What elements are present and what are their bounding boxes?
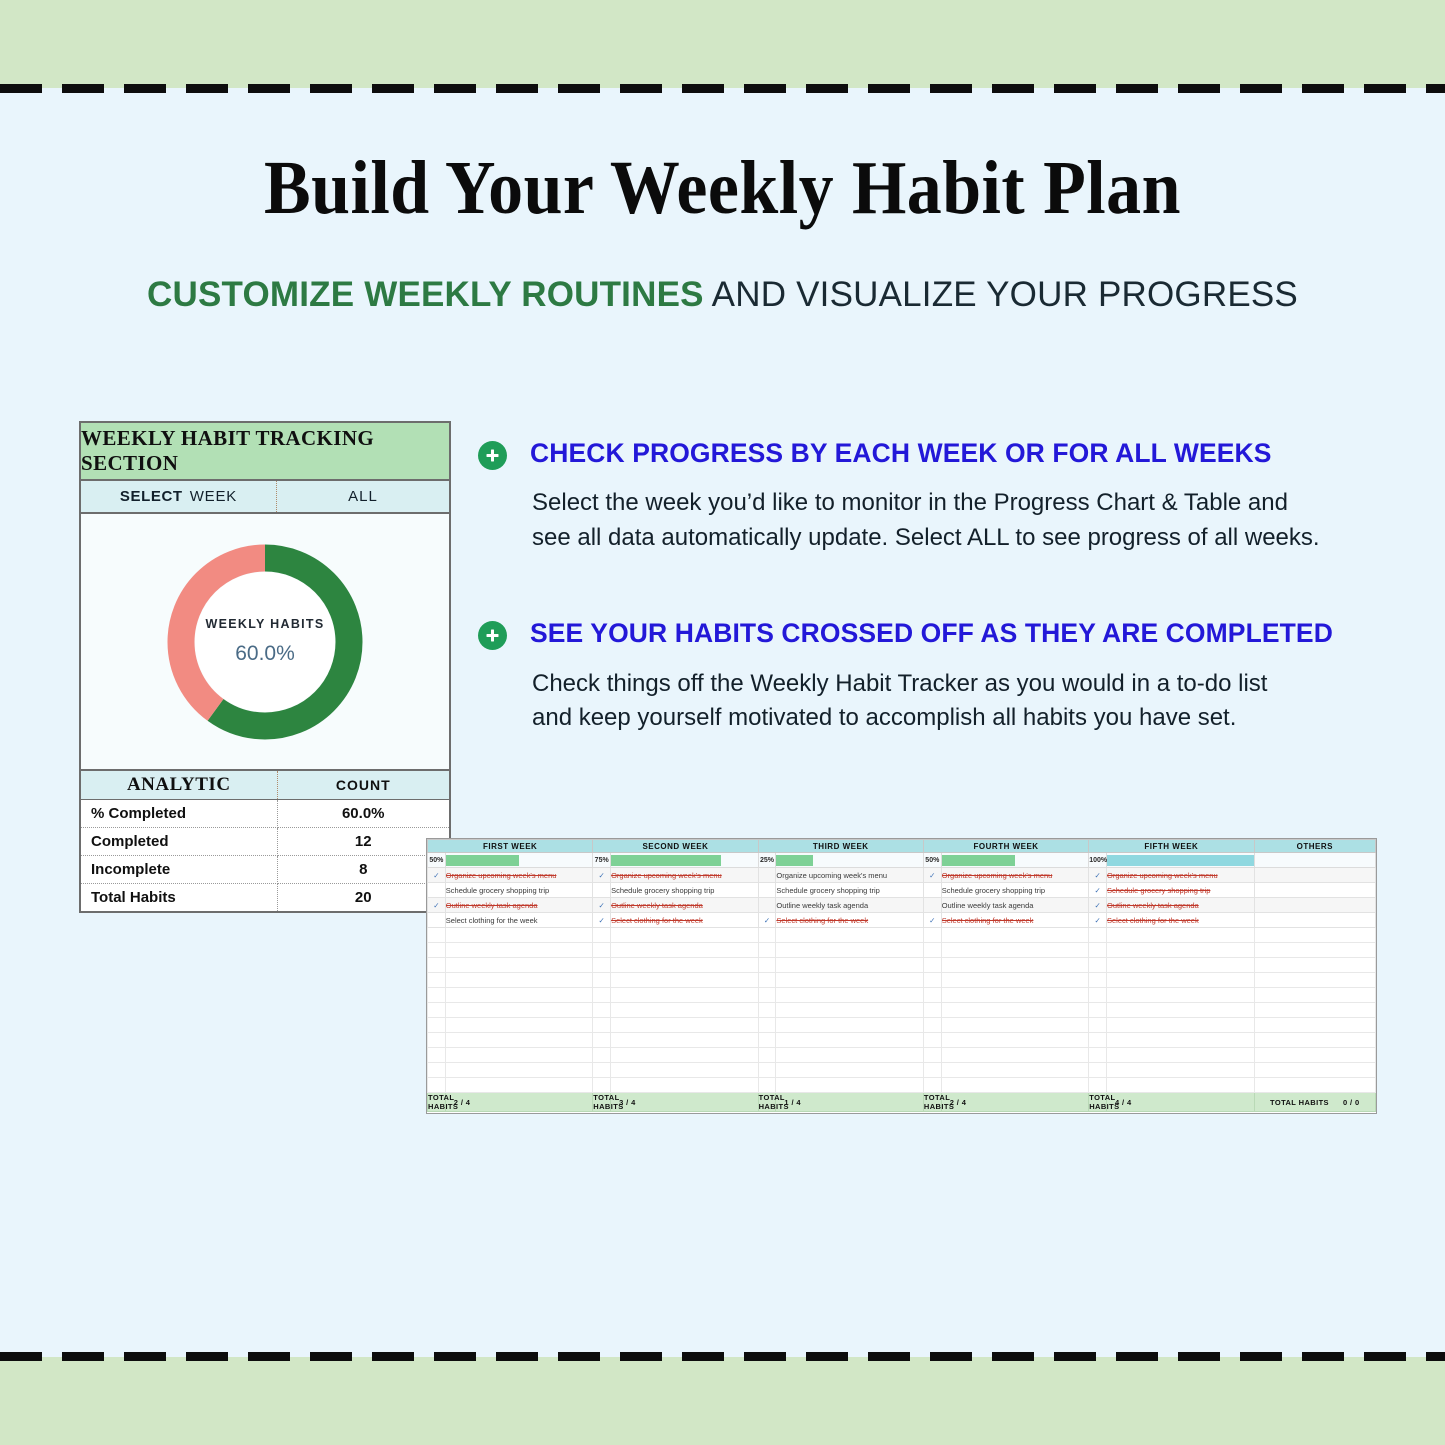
empty-cell[interactable] <box>941 1048 1089 1063</box>
task-checkbox[interactable]: ✓ <box>428 898 446 913</box>
empty-cell[interactable] <box>1089 973 1107 988</box>
empty-cell[interactable] <box>1089 1003 1107 1018</box>
empty-cell[interactable] <box>1254 1063 1375 1078</box>
feature-title: CHECK PROGRESS BY EACH WEEK OR FOR ALL W… <box>530 438 1378 468</box>
task-label[interactable]: Organize upcoming week's menu <box>776 868 924 883</box>
empty-cell[interactable] <box>941 958 1089 973</box>
analytic-row-count: 60.0% <box>277 799 449 827</box>
task-checkbox[interactable]: ✓ <box>428 868 446 883</box>
tracker-task-row: Select clothing for the week✓Select clot… <box>428 913 1376 928</box>
analytic-body: % Completed60.0%Completed12Incomplete8To… <box>81 799 449 911</box>
empty-cell[interactable] <box>1107 1003 1255 1018</box>
bottom-green-band <box>0 1357 1445 1445</box>
empty-cell[interactable] <box>1089 1048 1107 1063</box>
feature-body-line: Select the week you’d like to monitor in… <box>532 486 1378 521</box>
empty-cell[interactable] <box>445 1018 593 1033</box>
progress-percent-label: 25% <box>758 853 776 868</box>
bottom-dashed-divider <box>0 1352 1445 1361</box>
empty-cell[interactable] <box>611 988 759 1003</box>
progress-bar-track <box>611 855 758 866</box>
select-week-label: SELECT WEEK <box>81 481 277 512</box>
empty-cell[interactable] <box>923 973 941 988</box>
progress-bar-track <box>446 855 593 866</box>
empty-cell[interactable] <box>758 1078 776 1093</box>
empty-cell[interactable] <box>611 958 759 973</box>
progress-bar-cell <box>1107 853 1255 868</box>
empty-cell[interactable] <box>1089 1033 1107 1048</box>
empty-cell[interactable] <box>776 1003 924 1018</box>
weekly-habit-tracking-panel: WEEKLY HABIT TRACKING SECTION SELECT WEE… <box>79 421 451 913</box>
empty-cell[interactable] <box>758 1063 776 1078</box>
select-week-row: SELECT WEEK ALL <box>81 481 449 514</box>
empty-cell[interactable] <box>445 1063 593 1078</box>
empty-cell[interactable] <box>1107 1033 1255 1048</box>
analytic-row-count: 8 <box>277 855 449 883</box>
plus-circle-icon <box>478 441 507 470</box>
empty-cell[interactable] <box>1107 1063 1255 1078</box>
empty-cell[interactable] <box>776 958 924 973</box>
tracker-header-row: FIRST WEEKSECOND WEEKTHIRD WEEKFOURTH WE… <box>428 840 1376 853</box>
empty-cell[interactable] <box>611 1048 759 1063</box>
task-label <box>1254 868 1375 883</box>
empty-cell[interactable] <box>611 1078 759 1093</box>
empty-cell[interactable] <box>1254 1018 1375 1033</box>
total-habits-value: 2 / 4 <box>941 1093 1089 1112</box>
empty-cell[interactable] <box>1254 1048 1375 1063</box>
empty-cell[interactable] <box>941 1078 1089 1093</box>
progress-donut-chart: WEEKLY HABITS 60.0% <box>81 514 449 771</box>
empty-cell[interactable] <box>941 1033 1089 1048</box>
empty-cell[interactable] <box>776 943 924 958</box>
task-checkbox[interactable]: ✓ <box>1089 913 1107 928</box>
tracker-column-header: FOURTH WEEK <box>923 840 1088 853</box>
analytic-row-name: Total Habits <box>81 883 277 911</box>
task-label[interactable]: Outline weekly task agenda <box>941 898 1089 913</box>
empty-cell[interactable] <box>758 1033 776 1048</box>
progress-bar-track <box>1107 855 1254 866</box>
empty-cell[interactable] <box>923 1078 941 1093</box>
empty-cell[interactable] <box>923 928 941 943</box>
empty-cell[interactable] <box>776 1048 924 1063</box>
empty-cell[interactable] <box>445 958 593 973</box>
empty-cell[interactable] <box>923 1033 941 1048</box>
analytic-header-name: ANALYTIC <box>81 771 277 799</box>
task-label[interactable]: Outline weekly task agenda <box>611 898 759 913</box>
empty-cell[interactable] <box>1107 928 1255 943</box>
empty-cell[interactable] <box>593 958 611 973</box>
task-label[interactable]: Select clothing for the week <box>1107 913 1255 928</box>
empty-cell[interactable] <box>923 943 941 958</box>
analytic-row-name: Incomplete <box>81 855 277 883</box>
select-word: SELECT <box>120 488 183 505</box>
progress-bar-fill <box>446 855 519 866</box>
feature-item: SEE YOUR HABITS CROSSED OFF AS THEY ARE … <box>478 618 1378 736</box>
empty-cell[interactable] <box>1089 988 1107 1003</box>
task-checkbox[interactable] <box>428 913 446 928</box>
page-subtitle: CUSTOMIZE WEEKLY ROUTINES AND VISUALIZE … <box>0 275 1445 315</box>
task-checkbox[interactable] <box>923 898 941 913</box>
empty-cell[interactable] <box>1107 943 1255 958</box>
analytic-row: Total Habits20 <box>81 883 449 911</box>
task-label[interactable]: Organize upcoming week's menu <box>1107 868 1255 883</box>
progress-percent-label: 75% <box>593 853 611 868</box>
tracker-column-header: FIFTH WEEK <box>1089 840 1254 853</box>
tracker-column-header: SECOND WEEK <box>593 840 758 853</box>
empty-cell[interactable] <box>593 973 611 988</box>
total-habits-label: TOTAL HABITS <box>1089 1093 1107 1112</box>
task-checkbox[interactable] <box>758 868 776 883</box>
empty-cell[interactable] <box>776 988 924 1003</box>
empty-cell[interactable] <box>941 928 1089 943</box>
empty-cell[interactable] <box>593 1033 611 1048</box>
week-word: WEEK <box>190 488 237 505</box>
analytic-row-name: % Completed <box>81 799 277 827</box>
task-label[interactable]: Organize upcoming week's menu <box>445 868 593 883</box>
feature-item: CHECK PROGRESS BY EACH WEEK OR FOR ALL W… <box>478 438 1378 556</box>
tracker-empty-row <box>428 1033 1376 1048</box>
empty-cell[interactable] <box>445 1003 593 1018</box>
task-label[interactable]: Select clothing for the week <box>611 913 759 928</box>
tracker-head: FIRST WEEKSECOND WEEKTHIRD WEEKFOURTH WE… <box>428 840 1376 853</box>
tracker-empty-row <box>428 1078 1376 1093</box>
plus-circle-icon <box>478 621 507 650</box>
donut-center: WEEKLY HABITS 60.0% <box>195 572 335 712</box>
empty-cell[interactable] <box>593 1048 611 1063</box>
task-checkbox[interactable] <box>923 883 941 898</box>
empty-cell[interactable] <box>1089 1018 1107 1033</box>
task-checkbox[interactable]: ✓ <box>923 913 941 928</box>
empty-cell[interactable] <box>1089 928 1107 943</box>
analytic-row-name: Completed <box>81 827 277 855</box>
progress-bar-cell <box>776 853 924 868</box>
task-label[interactable]: Schedule grocery shopping trip <box>611 883 759 898</box>
task-checkbox[interactable]: ✓ <box>923 868 941 883</box>
tracker-task-row: ✓Organize upcoming week's menu✓Organize … <box>428 868 1376 883</box>
tracker-empty-row <box>428 988 1376 1003</box>
task-checkbox[interactable] <box>758 883 776 898</box>
empty-cell[interactable] <box>428 958 446 973</box>
empty-cell[interactable] <box>1089 943 1107 958</box>
empty-cell[interactable] <box>428 973 446 988</box>
tracker-empty-row <box>428 1063 1376 1078</box>
empty-cell[interactable] <box>923 1048 941 1063</box>
empty-cell[interactable] <box>758 928 776 943</box>
empty-cell[interactable] <box>445 1078 593 1093</box>
tracker-empty-row <box>428 958 1376 973</box>
task-label[interactable]: Select clothing for the week <box>776 913 924 928</box>
empty-cell[interactable] <box>776 1033 924 1048</box>
total-habits-label: TOTAL HABITS <box>923 1093 941 1112</box>
progress-bar-cell <box>941 853 1089 868</box>
analytic-header-row: ANALYTIC COUNT <box>81 771 449 799</box>
analytic-row-count: 12 <box>277 827 449 855</box>
empty-cell[interactable] <box>941 973 1089 988</box>
empty-cell[interactable] <box>611 1018 759 1033</box>
empty-cell[interactable] <box>923 988 941 1003</box>
top-green-band <box>0 0 1445 88</box>
empty-cell[interactable] <box>445 1048 593 1063</box>
total-habits-label: TOTAL HABITS <box>593 1093 611 1112</box>
empty-cell[interactable] <box>941 1003 1089 1018</box>
total-habits-label: TOTAL HABITS <box>758 1093 776 1112</box>
empty-cell[interactable] <box>428 1018 446 1033</box>
empty-cell[interactable] <box>593 928 611 943</box>
empty-cell[interactable] <box>428 1078 446 1093</box>
empty-cell[interactable] <box>776 1078 924 1093</box>
tracker-grid: FIRST WEEKSECOND WEEKTHIRD WEEKFOURTH WE… <box>427 839 1376 1112</box>
select-week-value[interactable]: ALL <box>277 481 449 512</box>
analytic-row: Completed12 <box>81 827 449 855</box>
tracker-body: 50%75%25%50%100%✓Organize upcoming week'… <box>428 853 1376 1112</box>
task-checkbox[interactable]: ✓ <box>593 868 611 883</box>
page-subtitle-rest: AND VISUALIZE YOUR PROGRESS <box>704 275 1298 314</box>
empty-cell[interactable] <box>611 928 759 943</box>
tracker-total-row: TOTAL HABITS2 / 4TOTAL HABITS3 / 4TOTAL … <box>428 1093 1376 1112</box>
empty-cell[interactable] <box>923 1018 941 1033</box>
progress-percent-label: 100% <box>1089 853 1107 868</box>
empty-cell[interactable] <box>445 973 593 988</box>
empty-cell[interactable] <box>941 1018 1089 1033</box>
empty-cell[interactable] <box>1254 1003 1375 1018</box>
empty-cell[interactable] <box>758 943 776 958</box>
empty-cell[interactable] <box>1089 958 1107 973</box>
empty-cell[interactable] <box>445 943 593 958</box>
tracker-empty-row <box>428 1003 1376 1018</box>
empty-cell[interactable] <box>593 1003 611 1018</box>
empty-cell[interactable] <box>428 1063 446 1078</box>
page-subtitle-accent: CUSTOMIZE WEEKLY ROUTINES <box>147 275 704 314</box>
empty-cell[interactable] <box>1254 988 1375 1003</box>
weekly-habit-tracker-spreadsheet: FIRST WEEKSECOND WEEKTHIRD WEEKFOURTH WE… <box>426 838 1377 1114</box>
empty-cell[interactable] <box>941 1063 1089 1078</box>
progress-bar-cell <box>1254 853 1375 868</box>
tracker-task-row: ✓Outline weekly task agenda✓Outline week… <box>428 898 1376 913</box>
tracker-empty-row <box>428 928 1376 943</box>
task-label[interactable]: Outline weekly task agenda <box>776 898 924 913</box>
empty-cell[interactable] <box>758 958 776 973</box>
empty-cell[interactable] <box>1107 988 1255 1003</box>
empty-cell[interactable] <box>611 973 759 988</box>
donut-label: WEEKLY HABITS <box>206 617 325 631</box>
feature-body-line: see all data automatically update. Selec… <box>532 521 1378 556</box>
empty-cell[interactable] <box>611 1003 759 1018</box>
empty-cell[interactable] <box>758 1003 776 1018</box>
tracker-empty-row <box>428 943 1376 958</box>
task-checkbox[interactable] <box>428 883 446 898</box>
top-dashed-divider <box>0 84 1445 93</box>
empty-cell[interactable] <box>1107 1048 1255 1063</box>
task-checkbox[interactable]: ✓ <box>593 898 611 913</box>
task-label[interactable]: Schedule grocery shopping trip <box>776 883 924 898</box>
feature-body-line: Check things off the Weekly Habit Tracke… <box>532 667 1378 702</box>
total-habits-value: 0 / 0 <box>1343 1098 1360 1107</box>
tracker-column-header: THIRD WEEK <box>758 840 923 853</box>
empty-cell[interactable] <box>1254 928 1375 943</box>
progress-bar-cell <box>611 853 759 868</box>
total-habits-value: 1 / 4 <box>776 1093 924 1112</box>
empty-cell[interactable] <box>593 1018 611 1033</box>
task-checkbox[interactable] <box>593 883 611 898</box>
empty-cell[interactable] <box>445 988 593 1003</box>
task-label[interactable]: Organize upcoming week's menu <box>941 868 1089 883</box>
progress-bar-fill <box>942 855 1015 866</box>
empty-cell[interactable] <box>758 1018 776 1033</box>
empty-cell[interactable] <box>1254 1078 1375 1093</box>
empty-cell[interactable] <box>941 943 1089 958</box>
progress-bar-fill <box>1107 855 1254 866</box>
empty-cell[interactable] <box>1089 1078 1107 1093</box>
task-label[interactable]: Schedule grocery shopping trip <box>941 883 1089 898</box>
task-label <box>1254 913 1375 928</box>
empty-cell[interactable] <box>593 1063 611 1078</box>
empty-cell[interactable] <box>1254 1033 1375 1048</box>
empty-cell[interactable] <box>923 1003 941 1018</box>
empty-cell[interactable] <box>428 943 446 958</box>
empty-cell[interactable] <box>611 1033 759 1048</box>
tracker-task-row: Schedule grocery shopping tripSchedule g… <box>428 883 1376 898</box>
donut-wrapper: WEEKLY HABITS 60.0% <box>161 538 369 746</box>
feature-title: SEE YOUR HABITS CROSSED OFF AS THEY ARE … <box>530 618 1378 648</box>
total-habits-value: 2 / 4 <box>445 1093 593 1112</box>
empty-cell[interactable] <box>776 1063 924 1078</box>
empty-cell[interactable] <box>776 928 924 943</box>
panel-title: WEEKLY HABIT TRACKING SECTION <box>81 423 449 481</box>
tracker-column-header: FIRST WEEK <box>428 840 593 853</box>
task-label[interactable]: Organize upcoming week's menu <box>611 868 759 883</box>
task-label[interactable]: Select clothing for the week <box>941 913 1089 928</box>
task-checkbox[interactable]: ✓ <box>1089 898 1107 913</box>
empty-cell[interactable] <box>1107 1078 1255 1093</box>
task-label <box>1254 898 1375 913</box>
empty-cell[interactable] <box>758 1048 776 1063</box>
empty-cell[interactable] <box>1107 973 1255 988</box>
empty-cell[interactable] <box>941 988 1089 1003</box>
empty-cell[interactable] <box>445 928 593 943</box>
task-label[interactable]: Schedule grocery shopping trip <box>1107 883 1255 898</box>
empty-cell[interactable] <box>923 958 941 973</box>
empty-cell[interactable] <box>428 1003 446 1018</box>
task-checkbox[interactable]: ✓ <box>758 913 776 928</box>
feature-body: Select the week you’d like to monitor in… <box>530 486 1378 556</box>
feature-body-line: and keep yourself motivated to accomplis… <box>532 701 1378 736</box>
progress-percent-label: 50% <box>923 853 941 868</box>
empty-cell[interactable] <box>611 943 759 958</box>
tracker-empty-row <box>428 1018 1376 1033</box>
empty-cell[interactable] <box>611 1063 759 1078</box>
empty-cell[interactable] <box>428 928 446 943</box>
tracker-progress-row: 50%75%25%50%100% <box>428 853 1376 868</box>
empty-cell[interactable] <box>1254 958 1375 973</box>
empty-cell[interactable] <box>776 1018 924 1033</box>
progress-bar-fill <box>611 855 721 866</box>
empty-cell[interactable] <box>1089 1063 1107 1078</box>
progress-bar-track <box>776 855 923 866</box>
task-label <box>1254 883 1375 898</box>
empty-cell[interactable] <box>1254 943 1375 958</box>
empty-cell[interactable] <box>428 1033 446 1048</box>
empty-cell[interactable] <box>758 973 776 988</box>
task-label[interactable]: Select clothing for the week <box>445 913 593 928</box>
progress-bar-cell <box>445 853 593 868</box>
task-checkbox[interactable]: ✓ <box>593 913 611 928</box>
task-label[interactable]: Outline weekly task agenda <box>445 898 593 913</box>
empty-cell[interactable] <box>1254 973 1375 988</box>
empty-cell[interactable] <box>593 988 611 1003</box>
empty-cell[interactable] <box>776 973 924 988</box>
empty-cell[interactable] <box>1107 1018 1255 1033</box>
empty-cell[interactable] <box>593 943 611 958</box>
analytic-table: ANALYTIC COUNT % Completed60.0%Completed… <box>81 771 449 911</box>
total-habits-label: TOTAL HABITS <box>1270 1098 1329 1107</box>
empty-cell[interactable] <box>428 988 446 1003</box>
empty-cell[interactable] <box>758 988 776 1003</box>
analytic-row-count: 20 <box>277 883 449 911</box>
tracker-empty-row <box>428 973 1376 988</box>
analytic-row: % Completed60.0% <box>81 799 449 827</box>
tracker-empty-row <box>428 1048 1376 1063</box>
empty-cell[interactable] <box>428 1048 446 1063</box>
task-label[interactable]: Schedule grocery shopping trip <box>445 883 593 898</box>
total-habits-value: 4 / 4 <box>1107 1093 1255 1112</box>
donut-value: 60.0% <box>235 642 295 666</box>
analytic-header-count: COUNT <box>277 771 449 799</box>
total-habits-cell: TOTAL HABITS0 / 0 <box>1254 1093 1375 1112</box>
empty-cell[interactable] <box>1107 958 1255 973</box>
task-label[interactable]: Outline weekly task agenda <box>1107 898 1255 913</box>
total-habits-label: TOTAL HABITS <box>428 1093 446 1112</box>
empty-cell[interactable] <box>445 1033 593 1048</box>
progress-bar-track <box>942 855 1089 866</box>
task-checkbox[interactable] <box>758 898 776 913</box>
tracker-column-header: OTHERS <box>1254 840 1375 853</box>
progress-percent-label: 50% <box>428 853 446 868</box>
feature-body: Check things off the Weekly Habit Tracke… <box>530 667 1378 737</box>
task-checkbox[interactable]: ✓ <box>1089 868 1107 883</box>
empty-cell[interactable] <box>923 1063 941 1078</box>
total-habits-value: 3 / 4 <box>611 1093 759 1112</box>
feature-list: CHECK PROGRESS BY EACH WEEK OR FOR ALL W… <box>478 438 1378 736</box>
page-title: Build Your Weekly Habit Plan <box>58 150 1387 226</box>
analytic-row: Incomplete8 <box>81 855 449 883</box>
empty-cell[interactable] <box>593 1078 611 1093</box>
task-checkbox[interactable]: ✓ <box>1089 883 1107 898</box>
progress-bar-fill <box>776 855 813 866</box>
